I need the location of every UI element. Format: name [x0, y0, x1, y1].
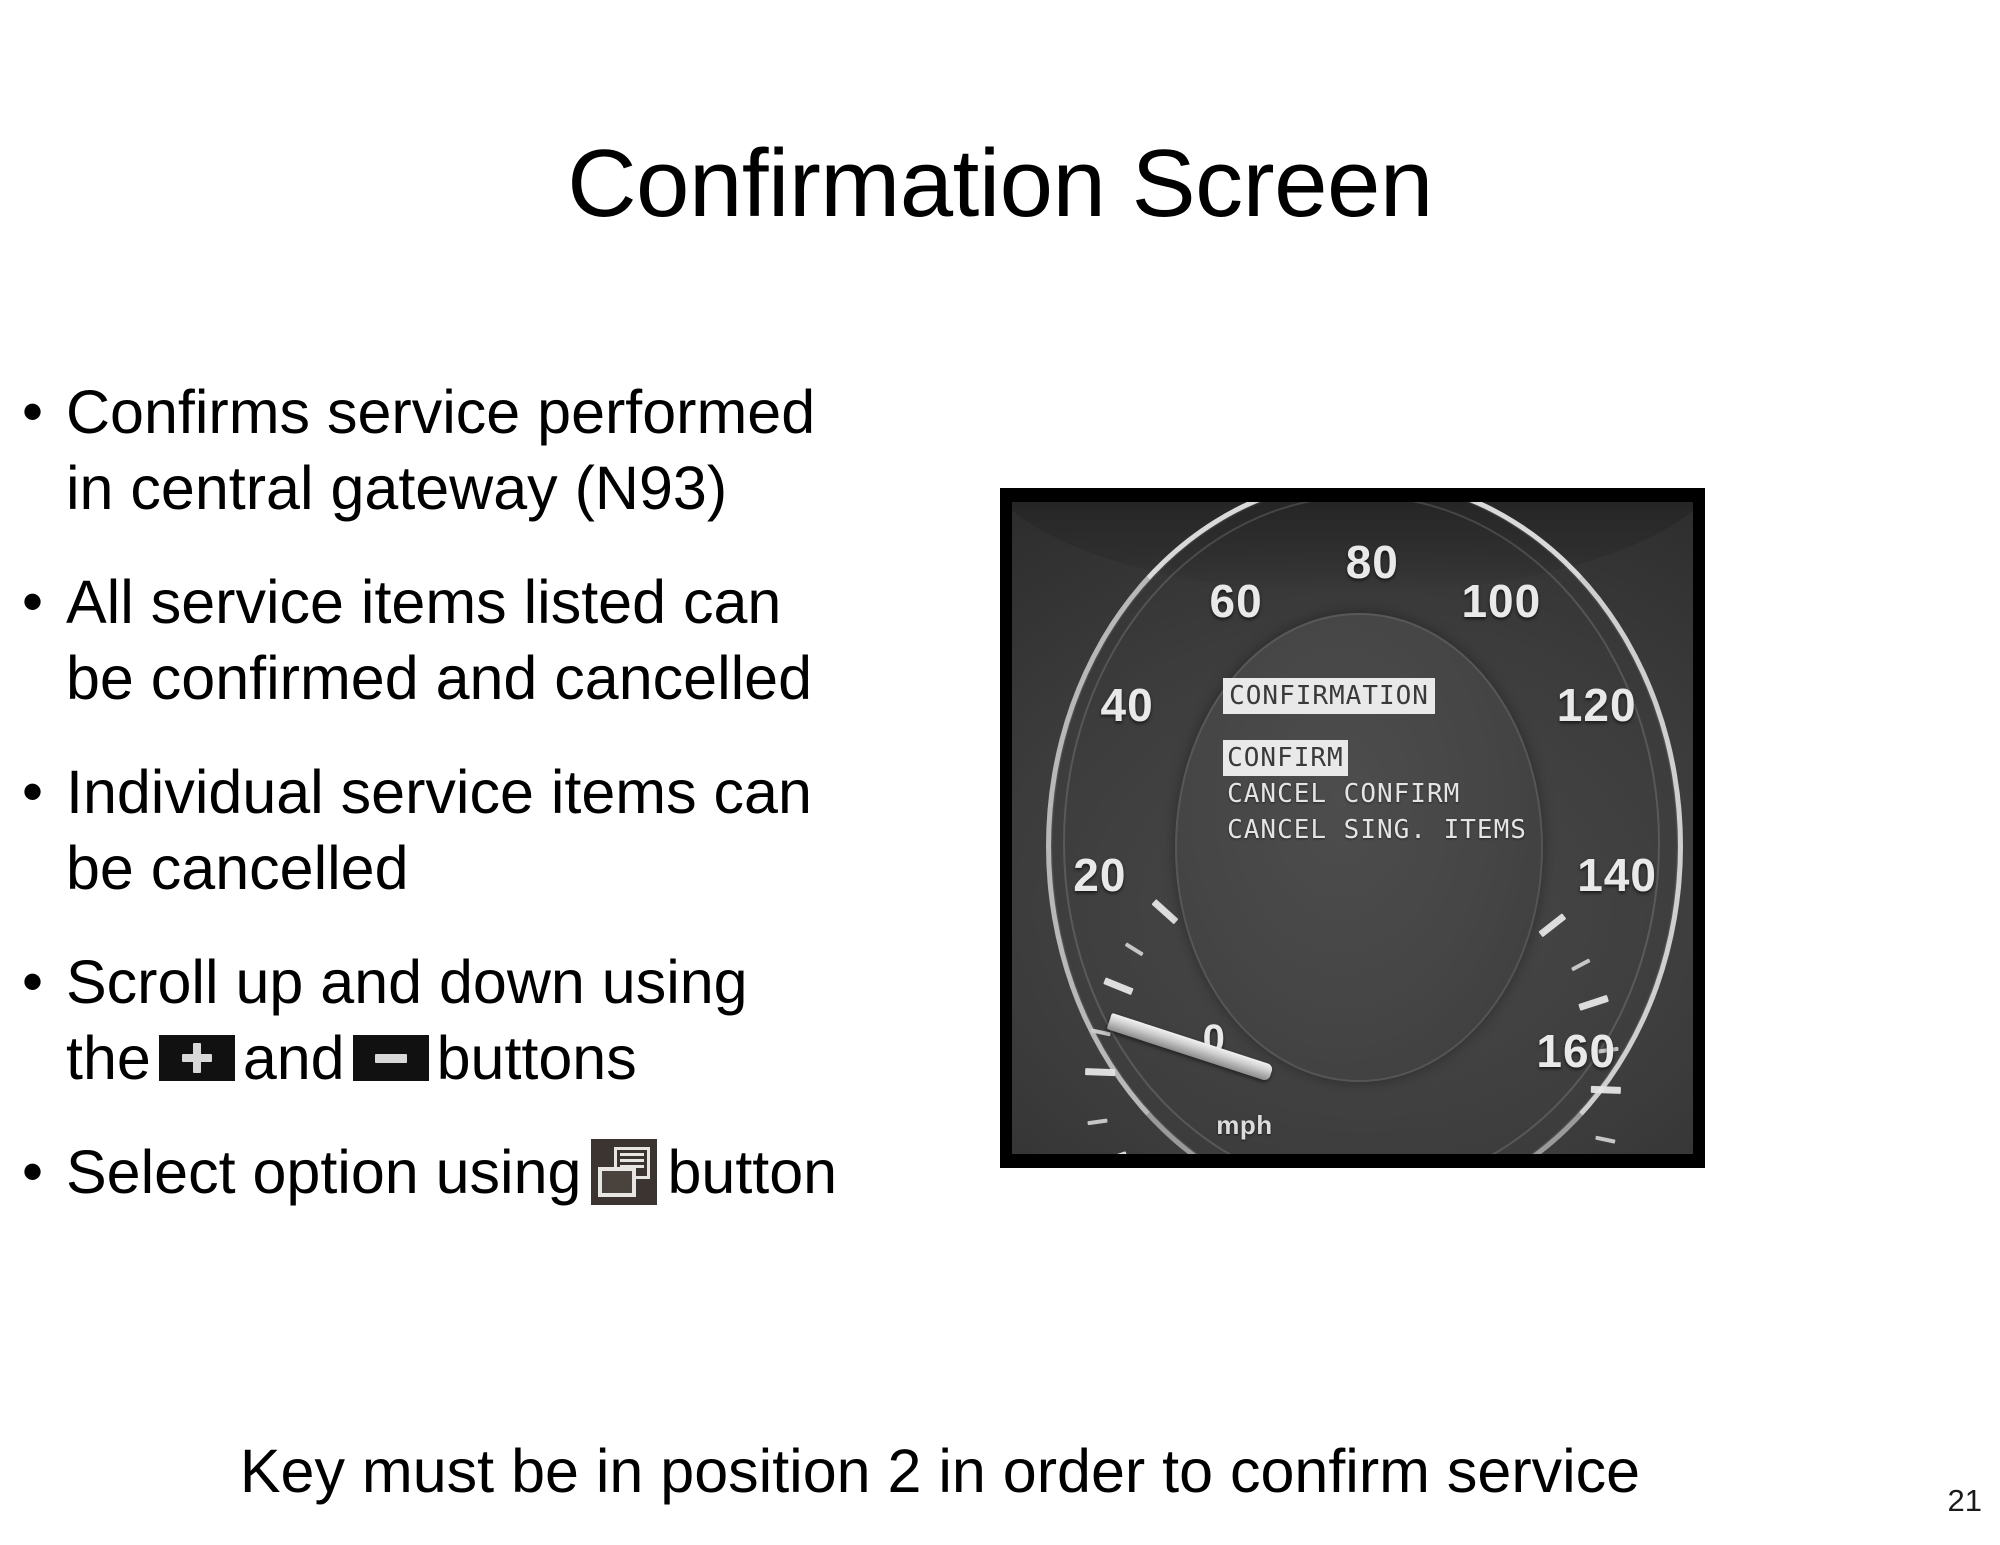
bullet-line: Individual service items can: [66, 754, 962, 830]
bullet-line: All service items listed can: [66, 564, 962, 640]
page-number: 21: [1948, 1483, 1982, 1519]
bullet-marker-icon: •: [22, 944, 66, 1020]
speed-label-20: 20: [1073, 848, 1126, 902]
bullet-text: Confirms service performed in central ga…: [66, 374, 962, 526]
speed-label-120: 120: [1557, 678, 1637, 732]
display-header: CONFIRMATION: [1223, 678, 1435, 714]
list-item: • All service items listed can be confir…: [22, 564, 962, 716]
display-option-cancel-sing-items[interactable]: CANCEL SING. ITEMS: [1223, 812, 1564, 848]
bullet-marker-icon: •: [22, 374, 66, 450]
bullet-line: be cancelled: [66, 830, 962, 906]
cluster-display-menu: CONFIRMATION CONFIRM CANCEL CONFIRM CANC…: [1223, 678, 1564, 848]
bullet-text: Scroll up and down using the and buttons: [66, 944, 962, 1096]
bullet-text: Individual service items can be cancelle…: [66, 754, 962, 906]
instrument-cluster-photo: 20 40 60 80 100 120 140 160 0 mph CONFIR…: [1000, 488, 1705, 1168]
list-item: • Scroll up and down using the and butto…: [22, 944, 962, 1096]
speed-label-140: 140: [1577, 848, 1657, 902]
list-item: • Individual service items can be cancel…: [22, 754, 962, 906]
bullet-text-fragment: buttons: [437, 1020, 637, 1096]
bullet-text-fragment: and: [243, 1020, 345, 1096]
bullet-line: in central gateway (N93): [66, 450, 962, 526]
display-option-confirm[interactable]: CONFIRM: [1223, 740, 1348, 776]
bullet-line: Select option using button: [66, 1134, 962, 1210]
bullet-text-fragment: Select option using: [66, 1134, 581, 1210]
speedometer-dial: 20 40 60 80 100 120 140 160 0 mph CONFIR…: [1012, 502, 1693, 1154]
bullet-line: Confirms service performed: [66, 374, 962, 450]
bullet-line: Scroll up and down using: [66, 944, 962, 1020]
bullet-marker-icon: •: [22, 754, 66, 830]
minus-button-icon[interactable]: [353, 1035, 429, 1081]
display-option-cancel-confirm[interactable]: CANCEL CONFIRM: [1223, 776, 1564, 812]
bullet-list: • Confirms service performed in central …: [22, 374, 962, 1248]
bullet-line: the and buttons: [66, 1020, 962, 1096]
speed-label-60: 60: [1209, 574, 1262, 628]
bullet-text: Select option using button: [66, 1134, 962, 1210]
bullet-marker-icon: •: [22, 564, 66, 640]
bullet-text-fragment: the: [66, 1020, 151, 1096]
speed-label-160: 160: [1536, 1024, 1616, 1078]
mph-unit-label: mph: [1216, 1110, 1272, 1141]
bullet-marker-icon: •: [22, 1134, 66, 1210]
list-item: • Confirms service performed in central …: [22, 374, 962, 526]
bullet-line: be confirmed and cancelled: [66, 640, 962, 716]
bullet-text: All service items listed can be confirme…: [66, 564, 962, 716]
speed-label-100: 100: [1461, 574, 1541, 628]
speed-label-40: 40: [1101, 678, 1154, 732]
list-item: • Select option using button: [22, 1134, 962, 1210]
select-window-button-icon[interactable]: [591, 1139, 657, 1205]
footer-note: Key must be in position 2 in order to co…: [0, 1433, 1880, 1509]
bullet-text-fragment: button: [667, 1134, 837, 1210]
speed-label-80: 80: [1346, 535, 1399, 589]
plus-button-icon[interactable]: [159, 1035, 235, 1081]
page-title: Confirmation Screen: [0, 136, 2000, 232]
display-option-list: CONFIRM CANCEL CONFIRM CANCEL SING. ITEM…: [1223, 740, 1564, 848]
